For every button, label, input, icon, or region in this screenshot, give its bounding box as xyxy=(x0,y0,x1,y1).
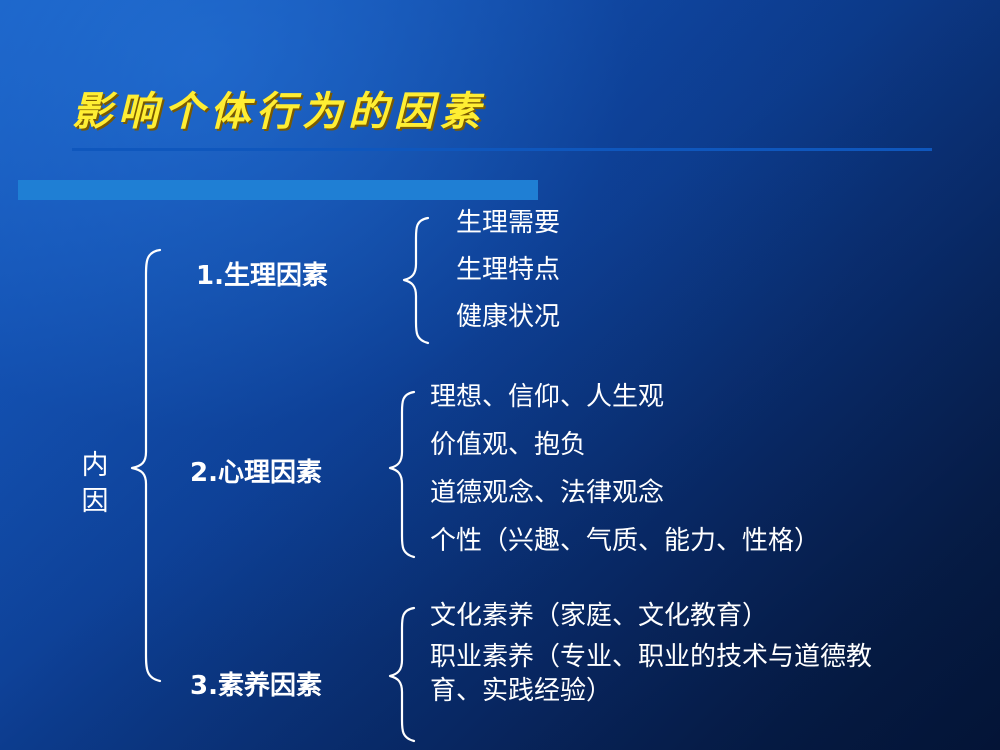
list-item: 理想、信仰、人生观 xyxy=(430,384,820,410)
item-list-quality: 文化素养（家庭、文化教育） 职业素养（专业、职业的技术与道德教育、实践经验） xyxy=(430,600,900,716)
group-label-quality: 3.素养因素 xyxy=(190,665,322,702)
slide: 影响个体行为的因素 内因 1.生理因素 2.心理因素 3.素养因素 生理需要 生… xyxy=(0,0,1000,750)
list-item: 个性（兴趣、气质、能力、性格） xyxy=(430,528,820,554)
list-item: 职业素养（专业、职业的技术与道德教育、实践经验） xyxy=(430,641,900,708)
group-label-psychological: 2.心理因素 xyxy=(190,452,322,489)
item-list-physiological: 生理需要 生理特点 健康状况 xyxy=(456,210,560,351)
group-label-physiological: 1.生理因素 xyxy=(196,255,328,292)
list-item: 道德观念、法律观念 xyxy=(430,480,820,506)
list-item: 生理特点 xyxy=(456,257,560,283)
list-item: 价值观、抱负 xyxy=(430,432,820,458)
brace-group-3 xyxy=(390,608,414,741)
list-item: 生理需要 xyxy=(456,210,560,236)
item-list-psychological: 理想、信仰、人生观 价值观、抱负 道德观念、法律观念 个性（兴趣、气质、能力、性… xyxy=(430,384,820,576)
brace-group-2 xyxy=(390,392,414,557)
brace-main xyxy=(132,250,160,681)
list-item: 文化素养（家庭、文化教育） xyxy=(430,600,900,633)
brace-group-1 xyxy=(404,218,428,343)
content-area: 内因 1.生理因素 2.心理因素 3.素养因素 生理需要 生理特点 健康状况 理… xyxy=(0,0,1000,750)
inner-cause-label: 内因 xyxy=(72,448,118,519)
list-item: 健康状况 xyxy=(456,304,560,330)
